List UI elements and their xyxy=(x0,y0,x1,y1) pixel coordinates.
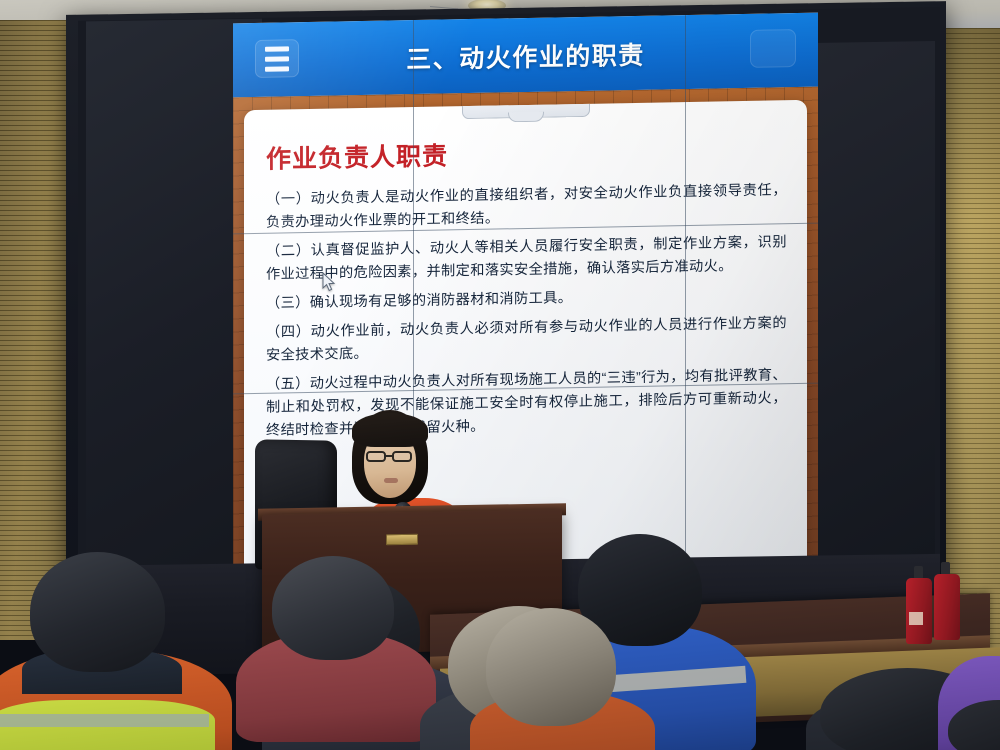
attendee-head xyxy=(30,552,165,672)
podium-nameplate xyxy=(386,534,418,546)
attendee-head xyxy=(486,608,616,726)
hi-vis-vest-stripe xyxy=(0,714,209,727)
slide-paragraph: （三）确认现场有足够的消防器材和消防工具。 xyxy=(266,283,787,316)
slide-title: 三、动火作业的职责 xyxy=(233,33,818,80)
card-notch-decoration xyxy=(462,102,590,119)
videowall-inactive-panel-right xyxy=(815,41,935,599)
slide-topbar: 三、动火作业的职责 xyxy=(233,13,818,98)
glasses-bridge xyxy=(386,455,393,457)
conference-room-scene: 三、动火作业的职责 作业负责人职责 （一）动火负责人是动火作业的直接组织者，对安… xyxy=(0,0,1000,750)
slide-paragraph: （四）动火作业前，动火负责人必须对所有参与动火作业的人员进行作业方案的安全技术交… xyxy=(266,312,787,368)
extinguisher-label xyxy=(909,612,923,625)
presenter-hair-front xyxy=(352,413,428,447)
glasses-left-lens xyxy=(366,451,386,462)
fire-extinguisher xyxy=(906,578,932,644)
fire-extinguisher xyxy=(934,574,960,640)
presenter-mouth xyxy=(384,478,398,483)
mouse-pointer-icon xyxy=(322,272,336,292)
slide-heading: 作业负责人职责 xyxy=(266,130,787,176)
glasses-right-lens xyxy=(392,451,412,462)
attendee-head xyxy=(272,556,394,660)
slide-paragraph: （一）动火负责人是动火作业的直接组织者，对安全动火作业负直接领导责任，负责办理动… xyxy=(266,179,787,235)
blank-button-icon[interactable] xyxy=(750,29,796,68)
slide-paragraph: （二）认真督促监护人、动火人等相关人员履行安全职责，制定作业方案，识别作业过程中… xyxy=(266,231,787,287)
